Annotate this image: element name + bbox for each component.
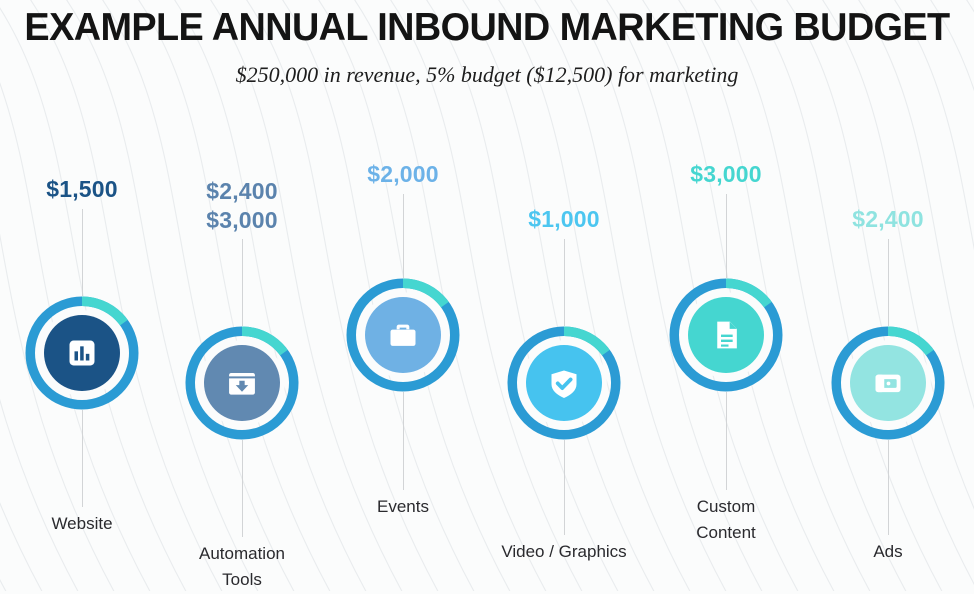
value-line: $3,000 [616,160,836,189]
value-label: $2,000 [293,160,513,189]
value-label: $3,000 [616,160,836,189]
wallet-icon [868,363,908,403]
budget-chart: $1,500Website$2,400$3,000Automation Tool… [0,0,974,591]
budget-circle[interactable] [507,326,621,440]
budget-circle[interactable] [346,278,460,392]
category-label: Ads [778,539,974,565]
value-label: $2,400 [778,205,974,234]
budget-circle[interactable] [831,326,945,440]
budget-circle[interactable] [185,326,299,440]
value-label: $1,000 [454,205,674,234]
value-line: $3,000 [132,206,352,235]
connector-line-top [242,239,243,326]
briefcase-icon [383,315,423,355]
category-label: Website [0,511,192,537]
connector-line-bottom [564,440,565,535]
value-line: $2,400 [778,205,974,234]
icon-container [831,326,945,440]
category-label: Events [293,494,513,520]
connector-line-bottom [888,440,889,535]
icon-container [185,326,299,440]
connector-line-top [726,194,727,278]
connector-line-top [888,239,889,326]
connector-line-bottom [82,410,83,507]
connector-line-bottom [403,392,404,490]
budget-circle[interactable] [25,296,139,410]
connector-line-top [403,194,404,278]
icon-container [507,326,621,440]
page-title: EXAMPLE ANNUAL INBOUND MARKETING BUDGET [15,6,960,50]
icon-container [669,278,783,392]
connector-line-top [82,209,83,296]
download-tray-icon [222,363,262,403]
icon-container [25,296,139,410]
shield-check-icon [544,363,584,403]
category-label: Automation Tools [132,541,352,594]
budget-circle[interactable] [669,278,783,392]
value-line: $2,000 [293,160,513,189]
header: EXAMPLE ANNUAL INBOUND MARKETING BUDGET … [0,0,974,88]
connector-line-bottom [242,440,243,537]
document-icon [706,315,746,355]
icon-container [346,278,460,392]
bar-chart-icon [62,333,102,373]
value-line: $1,000 [454,205,674,234]
connector-line-top [564,239,565,326]
page-subtitle: $250,000 in revenue, 5% budget ($12,500)… [0,62,974,88]
connector-line-bottom [726,392,727,490]
